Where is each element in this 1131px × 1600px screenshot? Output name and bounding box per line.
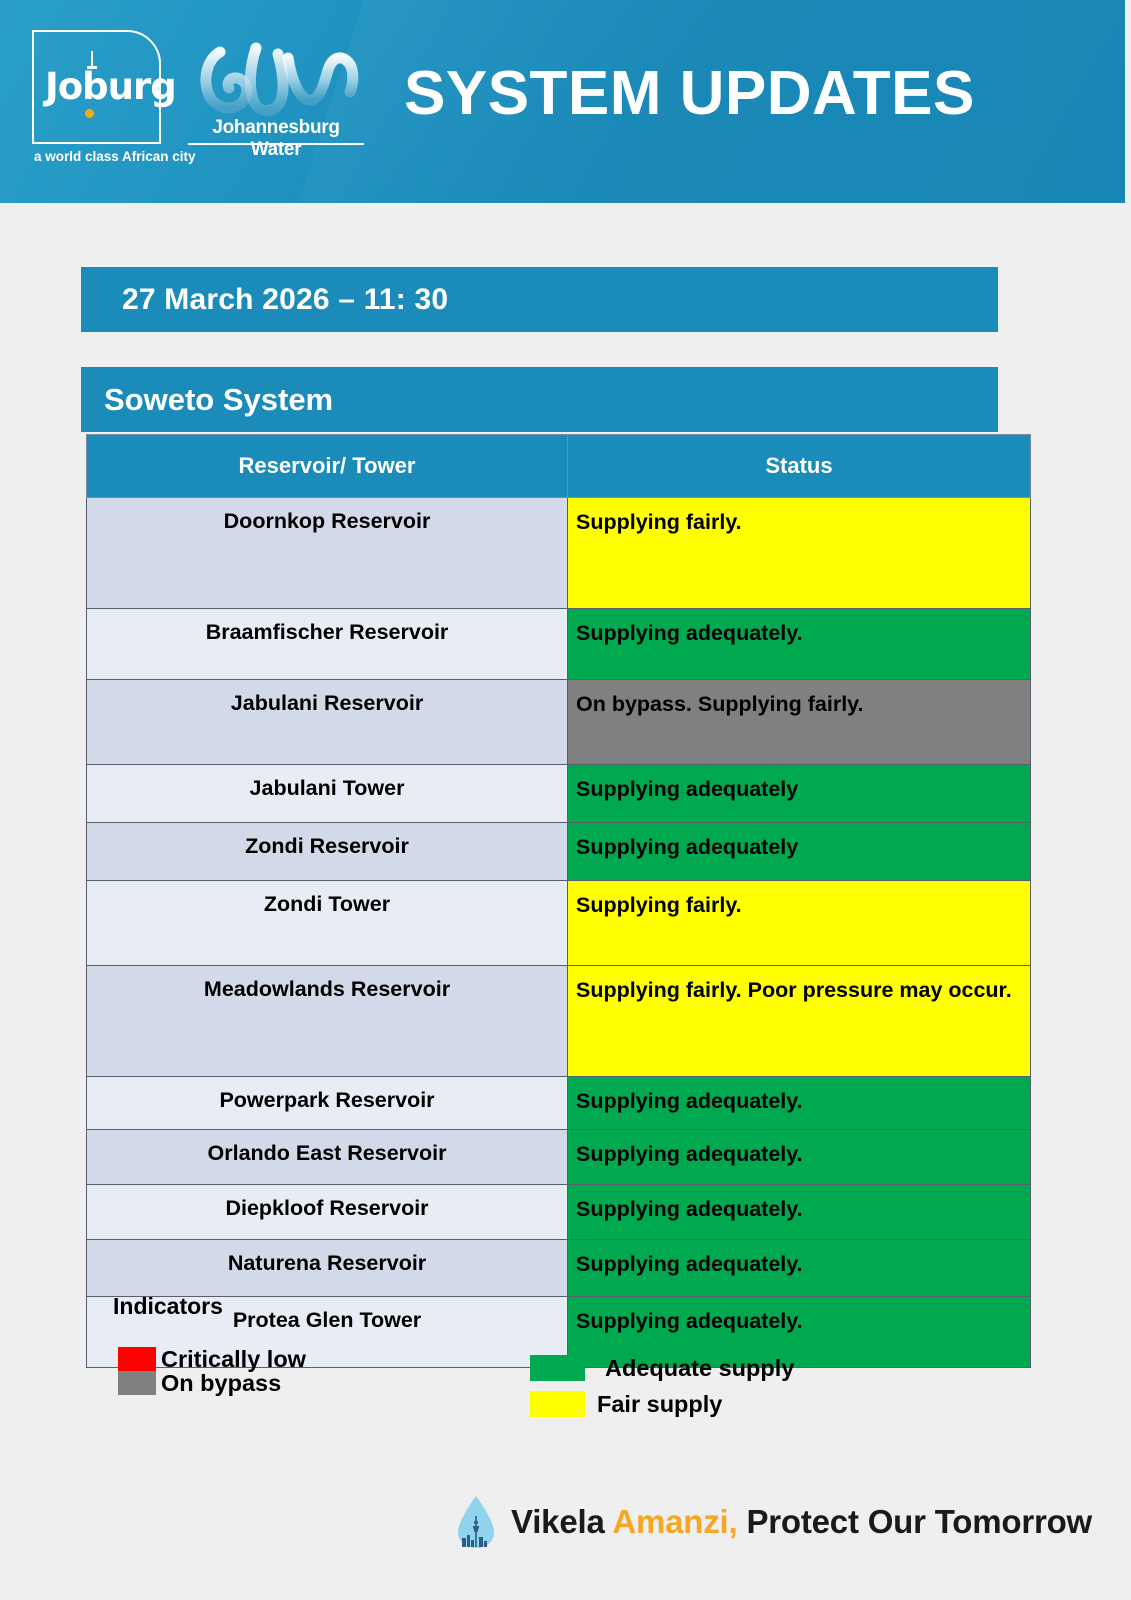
johannesburg-water-name: Johannesburg Water bbox=[186, 117, 366, 161]
date-bar-text: 27 March 2026 – 11: 30 bbox=[81, 283, 448, 317]
cell-status: Supplying adequately bbox=[568, 823, 1031, 881]
joburg-tagline: a world class African city bbox=[34, 149, 196, 164]
table-row: Meadowlands ReservoirSupplying fairly. P… bbox=[87, 966, 1031, 1077]
footer-highlight: Amanzi, bbox=[612, 1503, 737, 1540]
cell-reservoir-name: Powerpark Reservoir bbox=[87, 1077, 568, 1130]
table-row: Naturena ReservoirSupplying adequately. bbox=[87, 1240, 1031, 1297]
legend-swatch-fair-supply bbox=[530, 1391, 585, 1417]
status-table-body: Doornkop ReservoirSupplying fairly.Braam… bbox=[87, 498, 1031, 1368]
column-header-reservoir-tower: Reservoir/ Tower bbox=[87, 435, 568, 498]
legend-label-fair-supply: Fair supply bbox=[597, 1391, 722, 1418]
cell-reservoir-name: Diepkloof Reservoir bbox=[87, 1185, 568, 1240]
page-title: SYSTEM UPDATES bbox=[404, 58, 975, 129]
system-bar: Soweto System bbox=[81, 367, 998, 432]
cell-reservoir-name: Jabulani Reservoir bbox=[87, 680, 568, 765]
legend-label-on-bypass: On bypass bbox=[161, 1370, 281, 1397]
indicators-right-column: Adequate supply Fair supply bbox=[530, 1350, 794, 1422]
cell-status: Supplying fairly. bbox=[568, 881, 1031, 966]
water-wave-icon bbox=[192, 42, 362, 117]
legend-swatch-critically-low bbox=[118, 1347, 156, 1371]
cell-status: Supplying adequately. bbox=[568, 1240, 1031, 1297]
cell-reservoir-name: Meadowlands Reservoir bbox=[87, 966, 568, 1077]
cell-reservoir-name: Zondi Reservoir bbox=[87, 823, 568, 881]
cell-status: Supplying adequately. bbox=[568, 1077, 1031, 1130]
joburg-logo-dot-icon bbox=[85, 109, 94, 118]
legend-item: On bypass bbox=[118, 1371, 306, 1395]
cell-status: Supplying adequately. bbox=[568, 1130, 1031, 1185]
legend-swatch-adequate-supply bbox=[530, 1355, 585, 1381]
cell-reservoir-name: Zondi Tower bbox=[87, 881, 568, 966]
table-row: Jabulani ReservoirOn bypass. Supplying f… bbox=[87, 680, 1031, 765]
johannesburg-water-underline bbox=[188, 143, 364, 145]
table-header-row: Reservoir/ Tower Status bbox=[87, 435, 1031, 498]
johannesburg-water-logo: Johannesburg Water bbox=[186, 42, 366, 157]
footer-suffix: Protect Our Tomorrow bbox=[737, 1503, 1092, 1540]
cell-reservoir-name: Braamfischer Reservoir bbox=[87, 609, 568, 680]
date-bar: 27 March 2026 – 11: 30 bbox=[81, 267, 998, 332]
system-bar-text: Soweto System bbox=[81, 382, 333, 418]
cell-status: Supplying adequately. bbox=[568, 1185, 1031, 1240]
table-row: Diepkloof ReservoirSupplying adequately. bbox=[87, 1185, 1031, 1240]
cell-status: Supplying fairly. Poor pressure may occu… bbox=[568, 966, 1031, 1077]
legend-item: Fair supply bbox=[530, 1386, 794, 1422]
joburg-logo: Joburg a world class African city bbox=[28, 30, 178, 175]
column-header-status: Status bbox=[568, 435, 1031, 498]
legend-item: Adequate supply bbox=[530, 1350, 794, 1386]
legend-item: Critically low bbox=[118, 1347, 306, 1371]
cell-reservoir-name: Naturena Reservoir bbox=[87, 1240, 568, 1297]
water-droplet-city-icon bbox=[455, 1494, 497, 1550]
status-table: Reservoir/ Tower Status Doornkop Reservo… bbox=[86, 434, 1031, 1368]
table-row: Orlando East ReservoirSupplying adequate… bbox=[87, 1130, 1031, 1185]
cell-reservoir-name: Jabulani Tower bbox=[87, 765, 568, 823]
cell-reservoir-name: Doornkop Reservoir bbox=[87, 498, 568, 609]
cell-status: Supplying fairly. bbox=[568, 498, 1031, 609]
footer-text: Vikela Amanzi, Protect Our Tomorrow bbox=[511, 1503, 1092, 1541]
cell-status: On bypass. Supplying fairly. bbox=[568, 680, 1031, 765]
cell-status: Supplying adequately. bbox=[568, 609, 1031, 680]
table-row: Zondi TowerSupplying fairly. bbox=[87, 881, 1031, 966]
legend-label-critically-low: Critically low bbox=[161, 1346, 306, 1373]
table-row: Powerpark ReservoirSupplying adequately. bbox=[87, 1077, 1031, 1130]
legend-label-adequate-supply: Adequate supply bbox=[605, 1355, 794, 1382]
cell-status: Supplying adequately bbox=[568, 765, 1031, 823]
page-header: Joburg a world class African city Johann… bbox=[0, 0, 1125, 203]
indicators-left-column: Critically low On bypass bbox=[118, 1347, 306, 1395]
indicators-legend: Indicators Critically low On bypass Adeq… bbox=[113, 1293, 1013, 1423]
table-row: Jabulani TowerSupplying adequately bbox=[87, 765, 1031, 823]
legend-swatch-on-bypass bbox=[118, 1371, 156, 1395]
indicators-title: Indicators bbox=[113, 1293, 223, 1320]
table-row: Braamfischer ReservoirSupplying adequate… bbox=[87, 609, 1031, 680]
footer-prefix: Vikela bbox=[511, 1503, 612, 1540]
table-row: Zondi ReservoirSupplying adequately bbox=[87, 823, 1031, 881]
status-table-wrapper: Reservoir/ Tower Status Doornkop Reservo… bbox=[86, 434, 1030, 1368]
cell-reservoir-name: Orlando East Reservoir bbox=[87, 1130, 568, 1185]
footer-tagline: Vikela Amanzi, Protect Our Tomorrow bbox=[455, 1492, 1092, 1552]
table-row: Doornkop ReservoirSupplying fairly. bbox=[87, 498, 1031, 609]
joburg-wordmark: Joburg bbox=[45, 68, 176, 105]
